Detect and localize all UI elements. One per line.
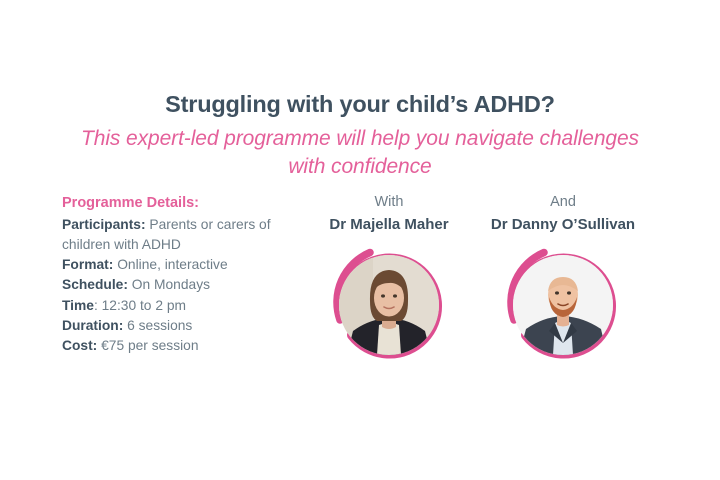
presenter-card-1: With Dr Majella Maher xyxy=(294,192,484,364)
detail-label-format: Format: xyxy=(62,257,113,272)
detail-value-cost: €75 per session xyxy=(97,338,198,353)
presenter-card-2: And Dr Danny O’Sullivan xyxy=(468,192,658,364)
programme-details-title: Programme Details: xyxy=(62,193,294,214)
promo-slide: Struggling with your child’s ADHD? This … xyxy=(0,0,720,480)
presenter-1-joiner: With xyxy=(294,192,484,212)
detail-value-schedule: On Mondays xyxy=(128,277,210,292)
detail-row-participants: Participants: Parents or carers of child… xyxy=(62,215,294,256)
portrait-majella-maher-image xyxy=(339,255,439,355)
detail-row-duration: Duration: 6 sessions xyxy=(62,316,294,336)
detail-row-cost: Cost: €75 per session xyxy=(62,336,294,356)
presenter-2-joiner: And xyxy=(468,192,658,212)
portrait-danny-osullivan-image xyxy=(513,255,613,355)
detail-label-cost: Cost: xyxy=(62,338,97,353)
presenter-1-name: Dr Majella Maher xyxy=(294,214,484,237)
programme-details: Programme Details: Participants: Parents… xyxy=(62,193,294,357)
subtitle-line-1: This expert-led programme will help you … xyxy=(81,127,534,150)
presenter-2-photo xyxy=(513,255,613,355)
detail-label-duration: Duration: xyxy=(62,318,123,333)
detail-row-schedule: Schedule: On Mondays xyxy=(62,275,294,295)
subtitle: This expert-led programme will help you … xyxy=(60,125,660,182)
presenter-2-name: Dr Danny O’Sullivan xyxy=(468,214,658,237)
presenter-1-photo xyxy=(339,255,439,355)
detail-row-time: Time: 12:30 to 2 pm xyxy=(62,296,294,316)
headline-block: Struggling with your child’s ADHD? This … xyxy=(60,90,660,181)
detail-value-time: : 12:30 to 2 pm xyxy=(94,298,186,313)
presenter-1-portrait xyxy=(330,246,448,364)
presenter-2-portrait xyxy=(504,246,622,364)
detail-value-format: Online, interactive xyxy=(113,257,227,272)
detail-label-schedule: Schedule: xyxy=(62,277,128,292)
detail-value-duration: 6 sessions xyxy=(123,318,192,333)
detail-row-format: Format: Online, interactive xyxy=(62,255,294,275)
detail-label-participants: Participants: xyxy=(62,217,146,232)
page-title: Struggling with your child’s ADHD? xyxy=(60,90,660,119)
detail-label-time: Time xyxy=(62,298,94,313)
